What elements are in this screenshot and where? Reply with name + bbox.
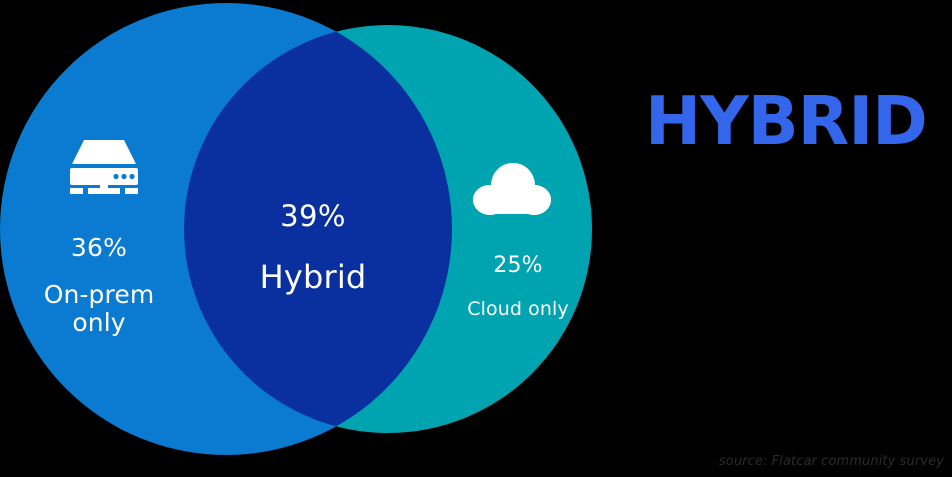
cloud-icon	[470, 158, 556, 220]
infographic-canvas: 36% On-prem only 39% Hybrid 25% Cloud on…	[0, 0, 952, 477]
cloud-percent: 25%	[440, 253, 596, 278]
hybrid-percent: 39%	[198, 200, 428, 233]
venn-diagram: 36% On-prem only 39% Hybrid 25% Cloud on…	[0, 0, 620, 477]
cloud-label: 25% Cloud only	[440, 235, 596, 338]
onprem-percent: 36%	[16, 234, 182, 263]
hybrid-caption: Hybrid	[198, 259, 428, 295]
onprem-caption: On-prem only	[16, 281, 182, 338]
onprem-label: 36% On-prem only	[16, 216, 182, 356]
server-rack-icon	[62, 138, 146, 198]
source-note: source: Flatcar community survey	[719, 454, 944, 469]
hybrid-label: 39% Hybrid	[198, 182, 428, 313]
cloud-caption: Cloud only	[440, 299, 596, 321]
page-title: HYBRID	[645, 88, 927, 155]
